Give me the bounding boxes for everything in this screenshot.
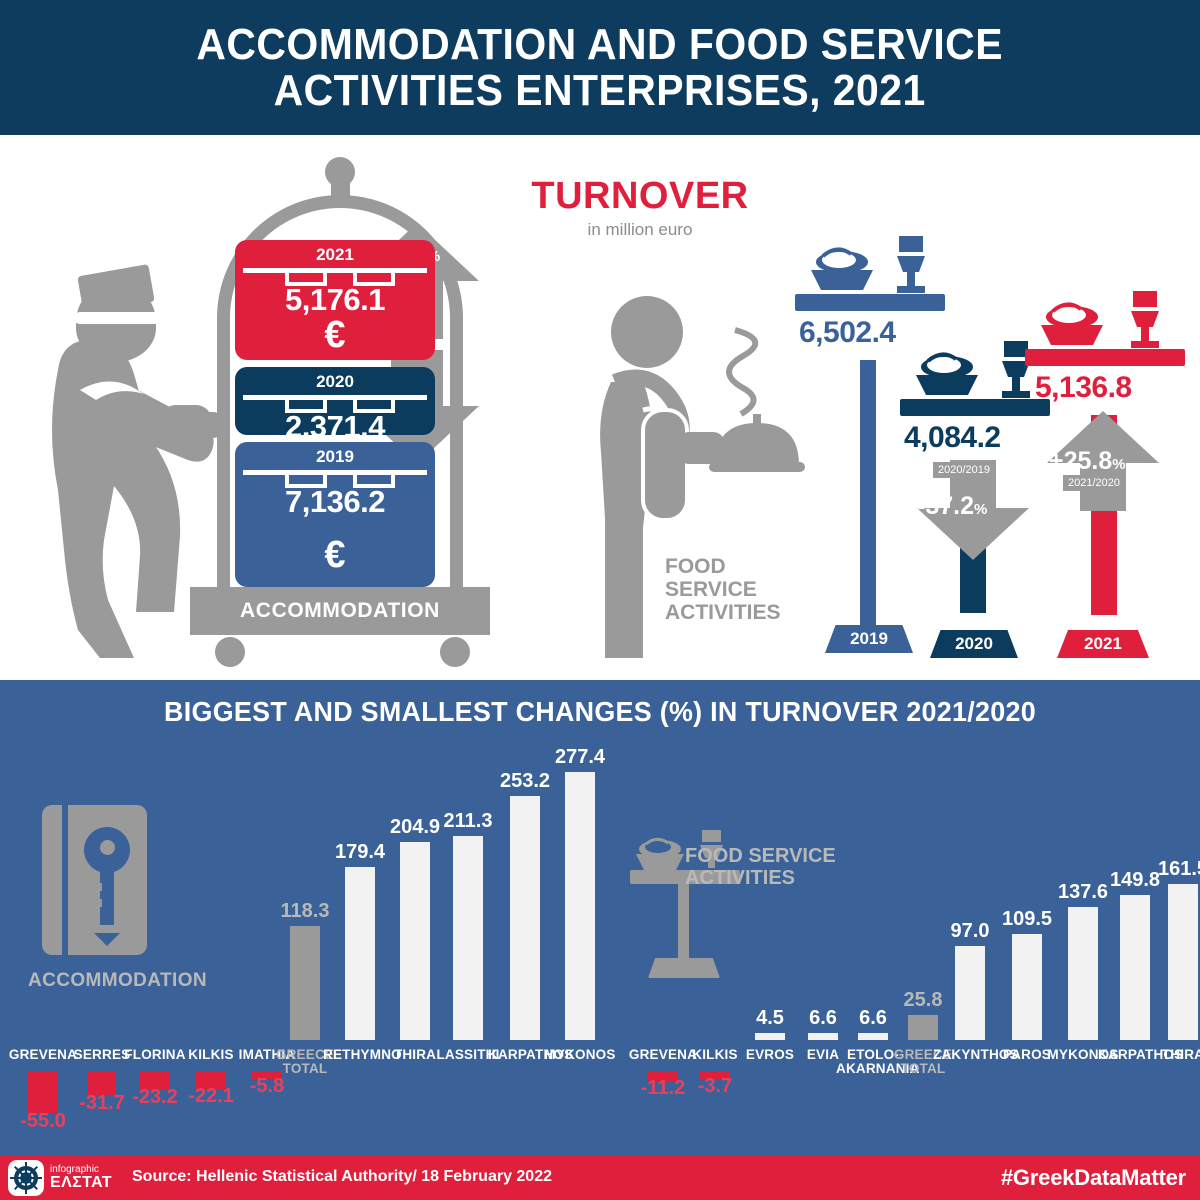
suitcase-value-2019: 7,136.2 bbox=[235, 484, 435, 520]
fsa-change-up-pct: +25.8% bbox=[1049, 447, 1126, 476]
chart-bar bbox=[28, 1072, 58, 1114]
cart-pole-left bbox=[217, 365, 230, 595]
food-service-change-down-arrow-icon: 2020/2019 -37.2% bbox=[917, 460, 1029, 565]
accommodation-label: ACCOMMODATION bbox=[240, 599, 440, 623]
stand-year-2019: 2019 bbox=[850, 629, 888, 649]
elstat-logo-icon bbox=[8, 1160, 44, 1196]
food-service-label: FOOD SERVICE ACTIVITIES bbox=[665, 555, 781, 624]
chart-bar bbox=[400, 842, 430, 1040]
food-service-value-2021: 5,136.8 bbox=[1035, 371, 1132, 405]
cart-handle-icon bbox=[160, 405, 212, 437]
suitcase-2021: 2021 5,176.1 € bbox=[235, 240, 435, 360]
food-service-value-2020: 4,084.2 bbox=[904, 421, 1001, 455]
fsa-change-up-ratio: 2021/2020 bbox=[1063, 475, 1125, 491]
food-service-change-up-arrow-icon: +25.8% 2021/2020 bbox=[1047, 411, 1159, 516]
stand-year-2021: 2021 bbox=[1084, 634, 1122, 654]
chart-bar bbox=[1120, 895, 1150, 1040]
chart-bar bbox=[510, 796, 540, 1040]
food-service-value-2019: 6,502.4 bbox=[799, 316, 896, 350]
chart-bar-value: 179.4 bbox=[327, 841, 393, 864]
chart-bar bbox=[453, 836, 483, 1040]
fsa-change-down-pct: -37.2% bbox=[917, 492, 987, 521]
suitcase-2019: 2019 7,136.2 € bbox=[235, 442, 435, 587]
euro-symbol-2019: € bbox=[235, 534, 435, 577]
chart-bar-value: 211.3 bbox=[435, 810, 501, 833]
suitcase-strap bbox=[243, 470, 427, 475]
infographic-page: ACCOMMODATION AND FOOD SERVICE ACTIVITIE… bbox=[0, 0, 1200, 1200]
title-line-2: ACTIVITIES ENTERPRISES, 2021 bbox=[197, 68, 1004, 114]
turnover-title: TURNOVER bbox=[480, 175, 800, 218]
chart-bar-label: MYKONOS bbox=[543, 1048, 617, 1062]
stand-top-2021 bbox=[1025, 349, 1185, 366]
chart-bar-label: THIRA bbox=[1146, 1048, 1200, 1062]
turnover-heading: TURNOVER in million euro bbox=[480, 175, 800, 240]
suitcase-value-2020: 2,371.4 bbox=[235, 409, 435, 445]
suitcase-year-2021: 2021 bbox=[235, 245, 435, 265]
title-line-1: ACCOMMODATION AND FOOD SERVICE bbox=[197, 20, 1004, 69]
turnover-subtitle: in million euro bbox=[480, 220, 800, 240]
chart-bar-value: -55.0 bbox=[10, 1110, 76, 1133]
stand-top-2019 bbox=[795, 294, 945, 311]
suitcase-value-2021: 5,176.1 bbox=[235, 282, 435, 318]
chart-bar-value: 25.8 bbox=[890, 989, 956, 1012]
chart-bar bbox=[908, 1015, 938, 1040]
suitcase-2020: 2020 2,371.4 bbox=[235, 367, 435, 435]
chart-bar bbox=[345, 867, 375, 1040]
elstat-logo-text: infographic ΕΛΣΤΑΤ bbox=[50, 1163, 112, 1189]
changes-bar-chart: -55.0GREVENA-31.7SERRES-23.2FLORINA-22.1… bbox=[0, 680, 1200, 1155]
cart-base: ACCOMMODATION bbox=[190, 587, 490, 635]
chart-bar-value: 109.5 bbox=[994, 908, 1060, 931]
euro-symbol-2021: € bbox=[235, 314, 435, 357]
stand-year-2020: 2020 bbox=[955, 634, 993, 654]
suitcase-year-2020: 2020 bbox=[235, 372, 435, 392]
chart-bar bbox=[1012, 934, 1042, 1040]
suitcase-year-2019: 2019 bbox=[235, 447, 435, 467]
page-title: ACCOMMODATION AND FOOD SERVICE ACTIVITIE… bbox=[197, 22, 1004, 114]
chart-bar-value: -5.8 bbox=[234, 1075, 300, 1098]
chart-bar bbox=[755, 1033, 785, 1040]
cart-wheel-right-icon bbox=[440, 637, 470, 667]
chart-bar bbox=[290, 926, 320, 1040]
chart-bar-value: 277.4 bbox=[547, 746, 613, 769]
plate-and-glass-icon-2021 bbox=[1033, 285, 1193, 355]
page-footer: infographic ΕΛΣΤΑΤ Source: Hellenic Stat… bbox=[0, 1155, 1200, 1200]
stand-pole-2019 bbox=[860, 360, 876, 625]
turnover-section: TURNOVER in million euro 2021 bbox=[0, 135, 1200, 680]
cart-wheel-left-icon bbox=[215, 637, 245, 667]
stand-base-2021: 2021 bbox=[1057, 630, 1149, 658]
chart-bar-value: 253.2 bbox=[492, 770, 558, 793]
hashtag-text: #GreekDataMatter bbox=[1001, 1165, 1186, 1191]
fsa-label-line1: FOOD bbox=[665, 555, 781, 578]
chart-bar-value: -3.7 bbox=[682, 1075, 748, 1098]
source-text: Source: Hellenic Statistical Authority/ … bbox=[132, 1168, 552, 1186]
chart-bar bbox=[565, 772, 595, 1040]
plate-and-glass-icon-2019 bbox=[803, 230, 953, 300]
fsa-label-line2: SERVICE bbox=[665, 578, 781, 601]
chart-bar bbox=[858, 1033, 888, 1040]
chart-bar bbox=[1068, 907, 1098, 1040]
suitcase-strap bbox=[243, 395, 427, 400]
chart-bar bbox=[1168, 884, 1198, 1040]
fsa-label-line3: ACTIVITIES bbox=[665, 601, 781, 624]
chart-bar bbox=[955, 946, 985, 1040]
chart-bar-value: 118.3 bbox=[272, 900, 338, 923]
logo-line-2: ΕΛΣΤΑΤ bbox=[50, 1176, 112, 1189]
chart-bar-value: 161.5 bbox=[1150, 858, 1200, 881]
changes-section: BIGGEST AND SMALLEST CHANGES (%) IN TURN… bbox=[0, 680, 1200, 1155]
suitcase-strap bbox=[243, 268, 427, 273]
fsa-change-down-ratio: 2020/2019 bbox=[933, 462, 995, 478]
food-service-stand-2021: 5,136.8 +25.8% 2021/2020 2021 bbox=[1025, 285, 1185, 670]
stand-base-2020: 2020 bbox=[930, 630, 1018, 658]
page-header: ACCOMMODATION AND FOOD SERVICE ACTIVITIE… bbox=[0, 0, 1200, 135]
chart-bar bbox=[808, 1033, 838, 1040]
